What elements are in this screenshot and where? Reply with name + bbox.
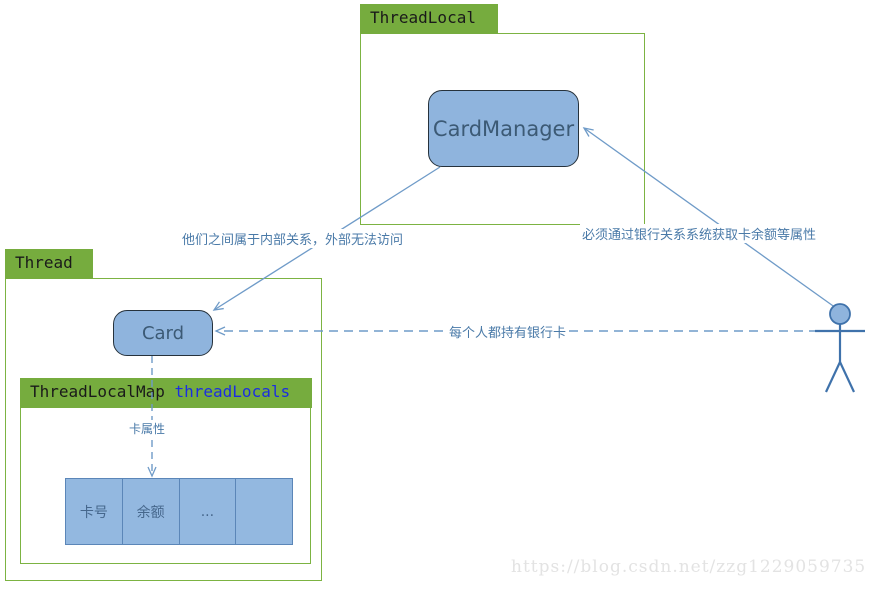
attribute-cell: 余额 xyxy=(123,479,180,544)
package-threadlocalmap-label: ThreadLocalMap threadLocals xyxy=(20,378,312,408)
class-card[interactable]: Card xyxy=(113,310,213,356)
package-thread-title: Thread xyxy=(15,253,73,272)
package-threadlocalmap-type: ThreadLocalMap xyxy=(30,382,165,401)
class-card-label: Card xyxy=(142,323,184,344)
attribute-cell: 卡号 xyxy=(66,479,123,544)
class-cardmanager[interactable]: CardManager xyxy=(428,90,579,167)
edge-label-manager-to-card: 他们之间属于内部关系，外部无法访问 xyxy=(180,229,405,248)
package-threadlocalmap-field: threadLocals xyxy=(175,382,291,401)
edge-label-card-to-table: 卡属性 xyxy=(127,420,167,437)
package-thread-label: Thread xyxy=(5,249,93,279)
package-threadlocal-title: ThreadLocal xyxy=(370,8,476,27)
attribute-cell: ... xyxy=(180,479,237,544)
attribute-cell xyxy=(236,479,292,544)
package-threadlocal-label: ThreadLocal xyxy=(360,4,498,34)
watermark: https://blog.csdn.net/zzg1229059735 xyxy=(511,557,866,577)
diagram-canvas: ThreadLocal Thread ThreadLocalMap thread… xyxy=(0,0,871,594)
edge-label-actor-to-manager: 必须通过银行关系系统获取卡余额等属性 xyxy=(580,224,818,243)
actor-figure xyxy=(815,304,865,392)
class-cardmanager-label: CardManager xyxy=(433,117,574,141)
edge-label-actor-to-card: 每个人都持有银行卡 xyxy=(447,322,568,341)
attribute-table: 卡号 余额 ... xyxy=(65,478,293,545)
